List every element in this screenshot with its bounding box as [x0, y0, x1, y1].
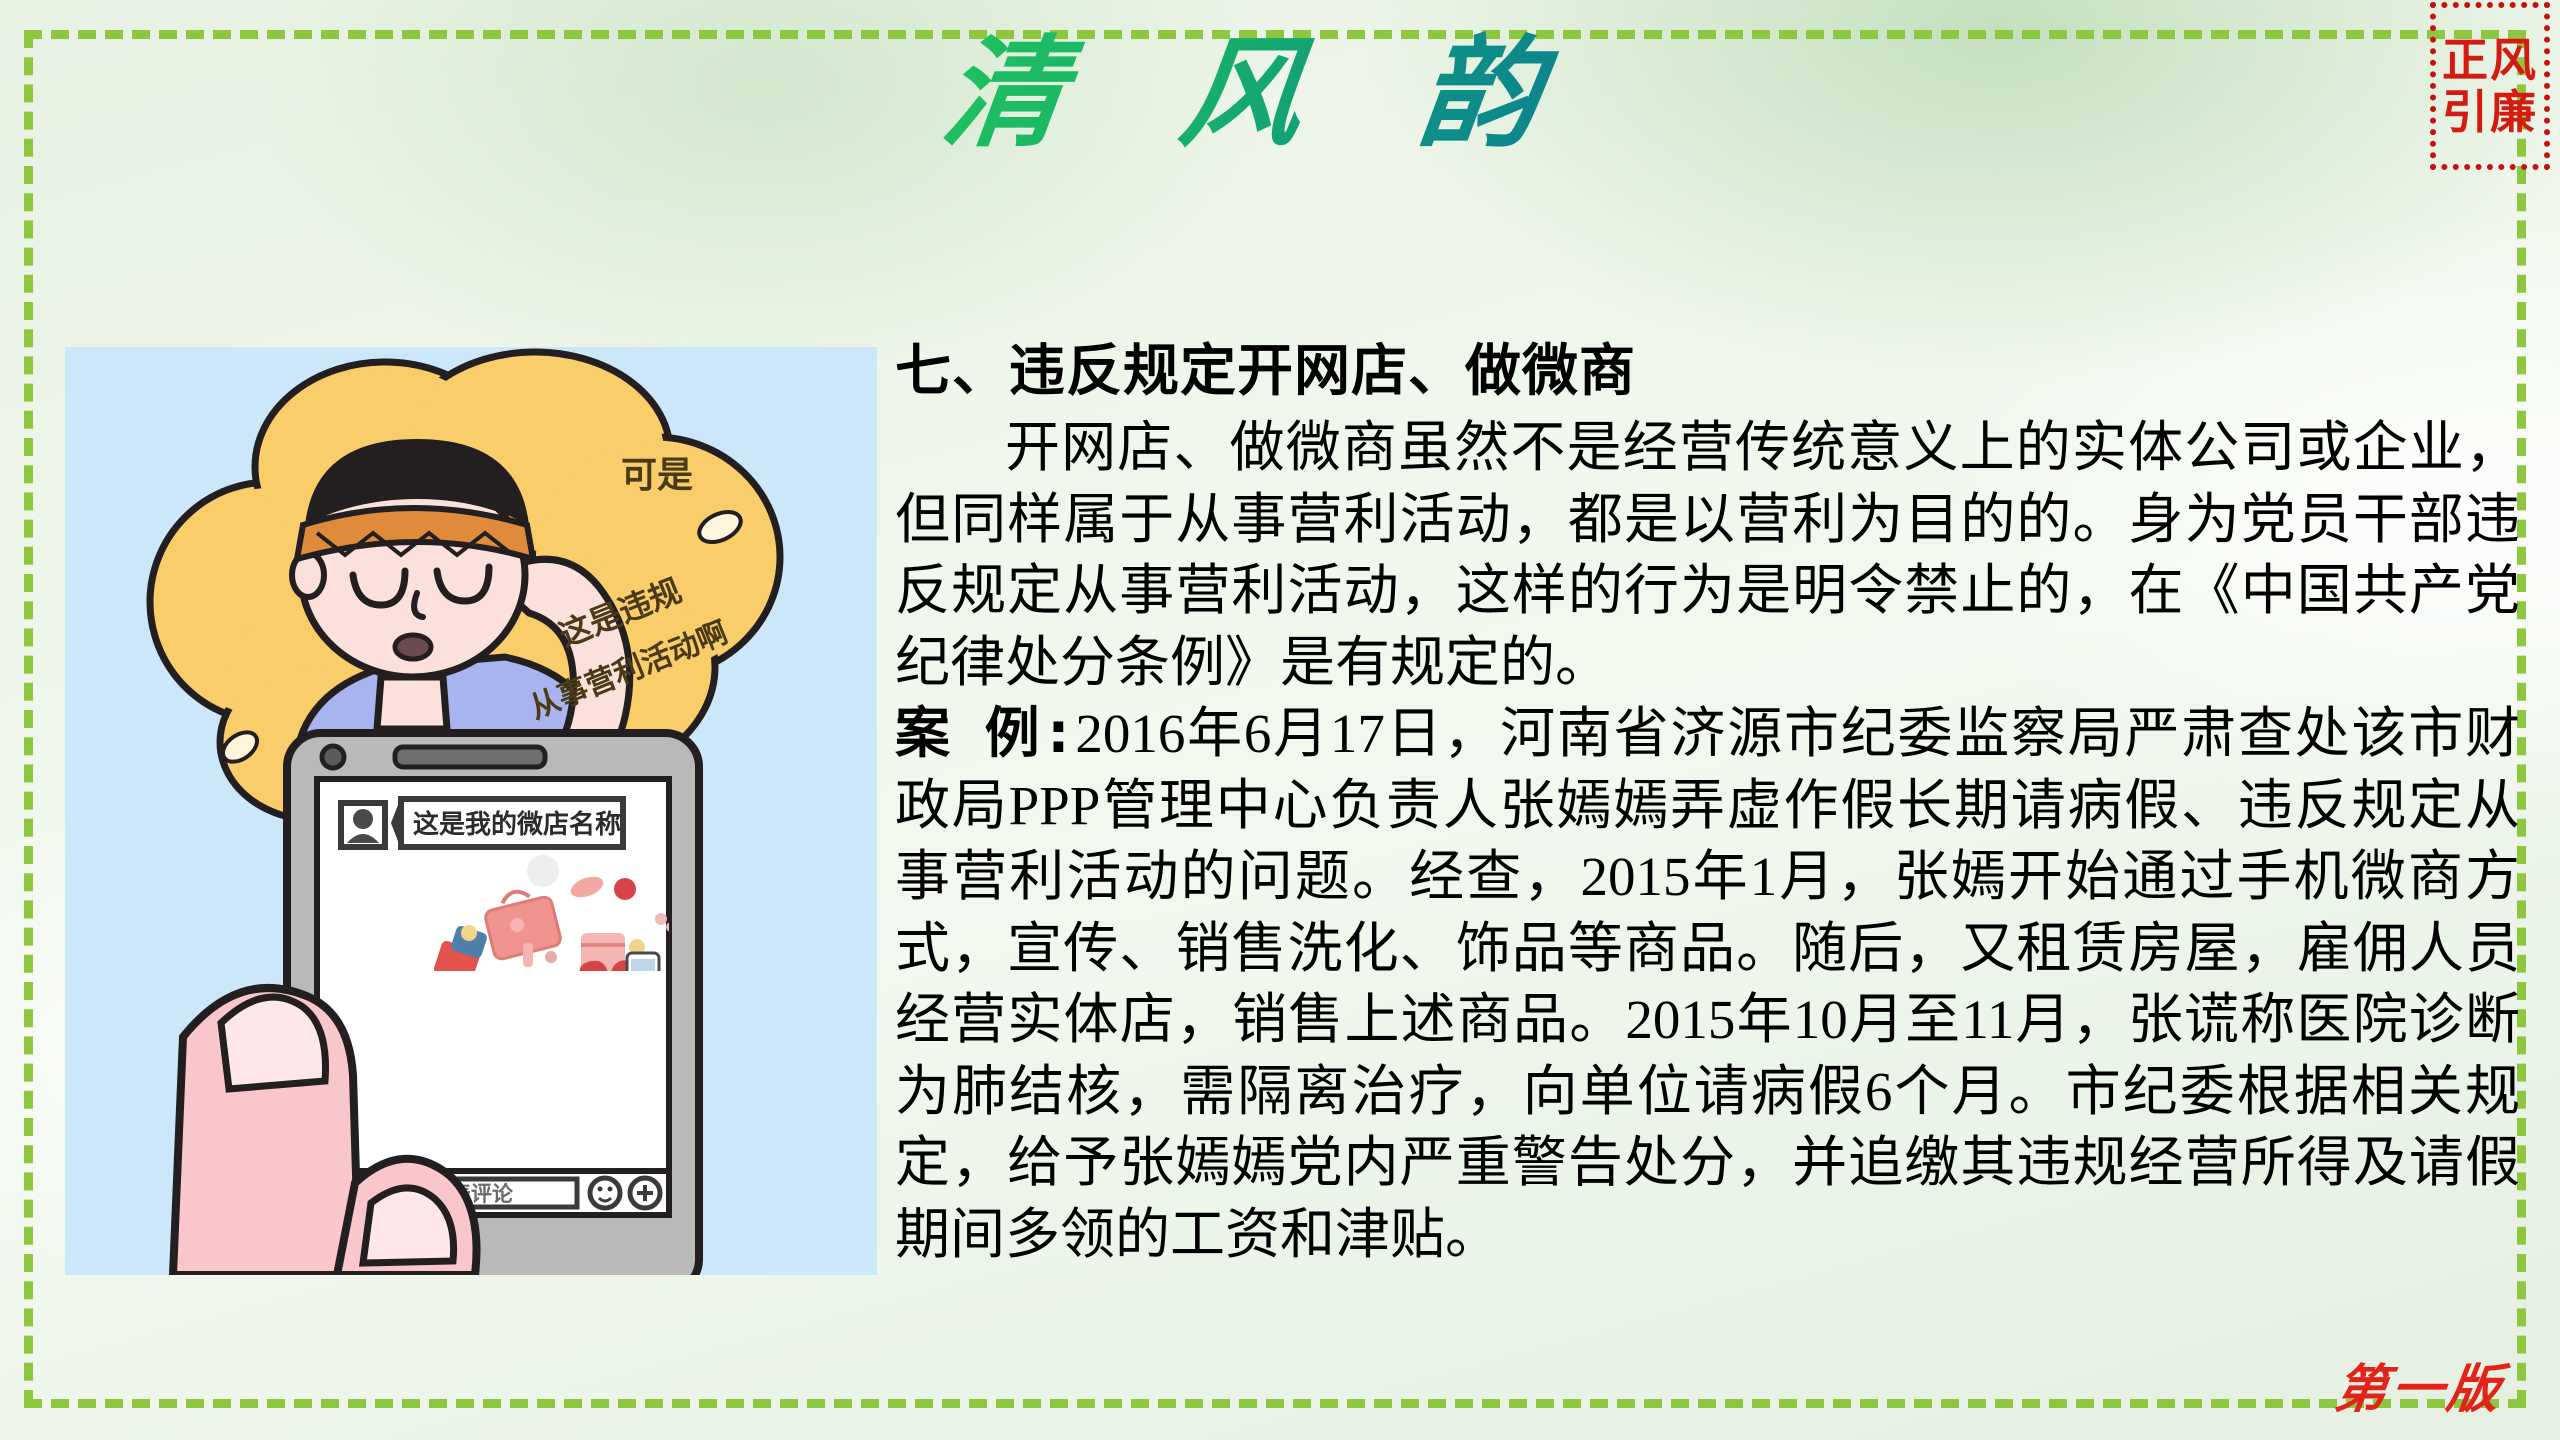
case-label: 案 例:: [895, 701, 1075, 765]
stamp-seal: 正风 引廉: [2430, 2, 2550, 170]
article-paragraph-1: 开网店、做微商虽然不是经营传统意义上的实体公司或企业，但同样属于从事营利活动，都…: [895, 412, 2520, 698]
illustration-svg: 可是 这是违规 从事营利活动啊: [65, 347, 877, 1275]
emoji-icon: [590, 1178, 620, 1208]
masthead: 清 风 韵: [0, 22, 2560, 166]
thumbnail-1: [221, 997, 326, 1089]
shop-name-text: 这是我的微店名称: [413, 809, 621, 840]
article-illustration: 可是 这是违规 从事营利活动啊: [65, 347, 877, 1275]
edition-mark: 第一版: [2331, 1347, 2510, 1422]
article: 七、违反规定开网店、做微商 开网店、做微商虽然不是经营传统意义上的实体公司或企业…: [895, 340, 2520, 1270]
phone-camera: [322, 746, 344, 768]
page-content: 可是 这是违规 从事营利活动啊: [0, 340, 2560, 1340]
case-text: 2016年6月17日，河南省济源市纪委监察局严肃查处该市财政局PPP管理中心负责…: [895, 703, 2520, 1265]
stamp-line-2: 引廉: [2442, 89, 2538, 135]
thought-text-top: 可是: [621, 455, 693, 496]
stamp-line-1: 正风: [2442, 37, 2538, 83]
page-title: 清 风 韵: [935, 22, 1624, 166]
article-case-paragraph: 案 例:2016年6月17日，河南省济源市纪委监察局严肃查处该市财政局PPP管理…: [895, 698, 2520, 1270]
newspaper-page: 清 风 韵 正风 引廉: [0, 0, 2560, 1440]
article-heading: 七、违反规定开网店、做微商: [895, 340, 2520, 404]
phone-speaker: [395, 747, 545, 767]
thumbnail-2: [363, 1188, 454, 1263]
